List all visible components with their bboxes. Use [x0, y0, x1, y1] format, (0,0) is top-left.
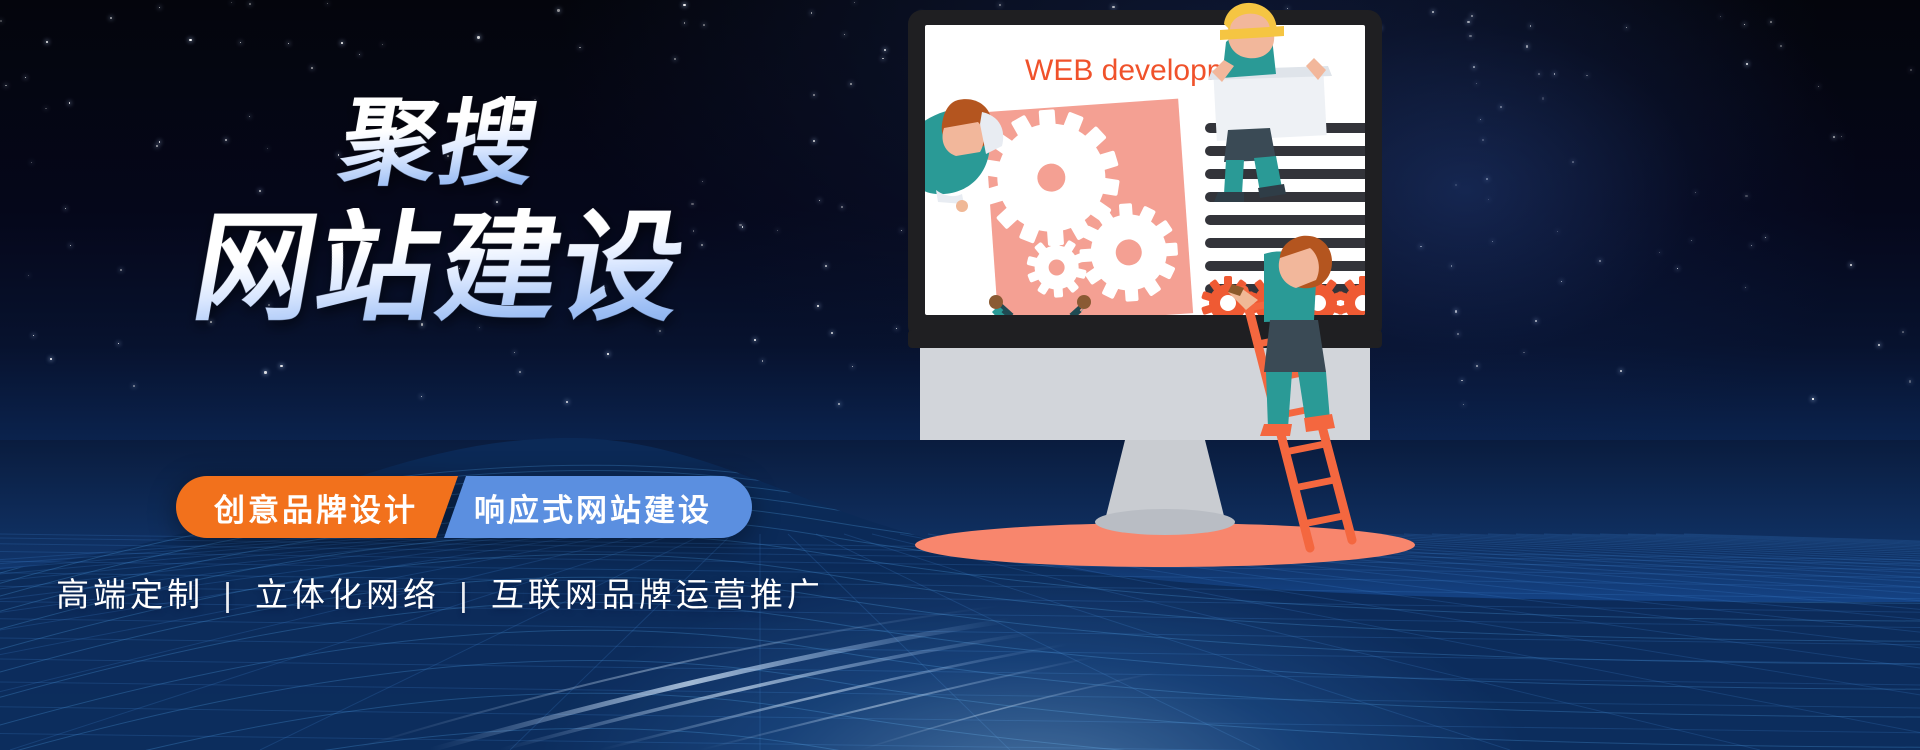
- hero-text-block: 聚搜 网站建设 创意品牌设计 响应式网站建设 高端定制 | 立体化网络 | 互联…: [0, 0, 880, 750]
- page-title: 聚搜 网站建设: [0, 96, 880, 328]
- monitor-stand-base: [1095, 509, 1235, 535]
- title-line-2: 网站建设: [185, 208, 694, 328]
- hero-banner: 聚搜 网站建设 创意品牌设计 响应式网站建设 高端定制 | 立体化网络 | 互联…: [0, 0, 1920, 750]
- gear-panel: [979, 99, 1194, 327]
- tagline-separator-1: |: [217, 576, 242, 613]
- web-development-illustration: WEB development: [840, 0, 1460, 600]
- small-gear-5: [1381, 276, 1435, 330]
- pill-responsive-website-build[interactable]: 响应式网站建设: [444, 476, 752, 538]
- tagline: 高端定制 | 立体化网络 | 互联网品牌运营推广: [0, 568, 880, 616]
- feature-pill-group: 创意品牌设计 响应式网站建设: [176, 476, 752, 538]
- tagline-separator-2: |: [453, 576, 478, 613]
- title-line-1: 聚搜: [334, 96, 547, 192]
- tagline-part-1: 高端定制: [56, 576, 204, 613]
- tagline-part-2: 立体化网络: [255, 576, 440, 613]
- tagline-part-3: 互联网品牌运营推广: [491, 576, 824, 613]
- pill-creative-brand-design[interactable]: 创意品牌设计: [176, 476, 458, 538]
- monitor-stand-neck: [1105, 440, 1225, 520]
